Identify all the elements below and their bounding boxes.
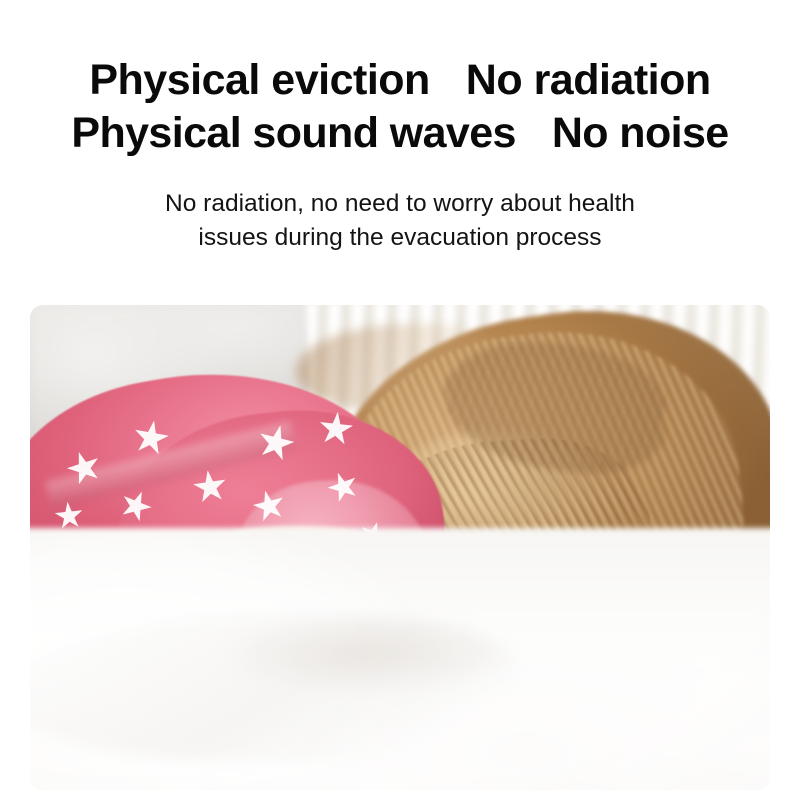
sleeping-child-photo xyxy=(30,305,770,790)
headline: Physical evictionNo radiation Physical s… xyxy=(0,54,800,160)
headline-line-2-right: No noise xyxy=(552,109,729,157)
photo-vignette xyxy=(30,305,770,790)
subtitle-line-2: issues during the evacuation process xyxy=(0,221,800,255)
headline-line-1-right: No radiation xyxy=(466,56,711,104)
headline-line-2: Physical sound wavesNo noise xyxy=(0,107,800,160)
subtitle-line-1: No radiation, no need to worry about hea… xyxy=(0,187,800,221)
subtitle: No radiation, no need to worry about hea… xyxy=(0,187,800,255)
product-feature-banner: Physical evictionNo radiation Physical s… xyxy=(0,0,800,800)
photo-content xyxy=(30,305,770,790)
headline-line-1-left: Physical eviction xyxy=(89,56,429,104)
headline-line-2-left: Physical sound waves xyxy=(71,109,515,157)
headline-line-1: Physical evictionNo radiation xyxy=(0,54,800,107)
